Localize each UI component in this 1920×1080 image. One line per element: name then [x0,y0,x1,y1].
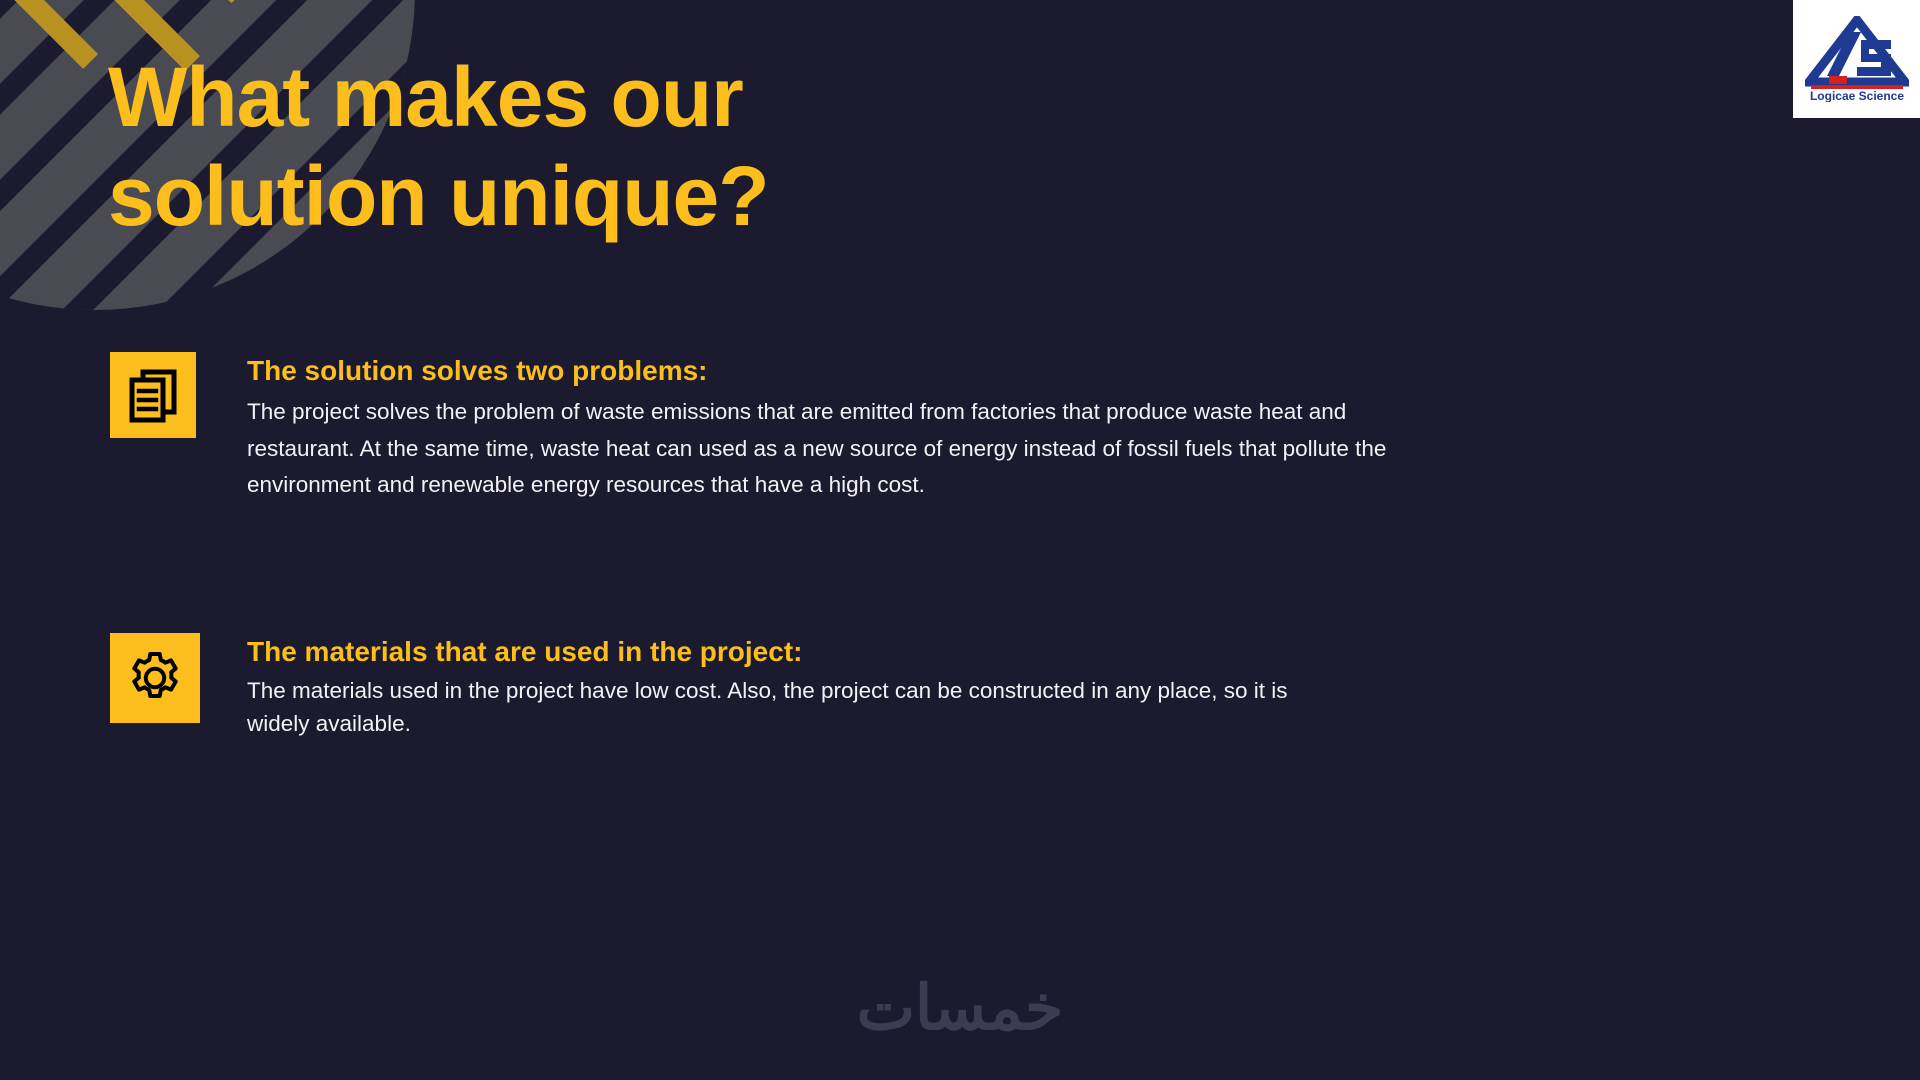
page-title-line-2: solution unique? [108,147,1008,246]
content-block-1: The solution solves two problems: The pr… [110,352,1397,503]
watermark: خمسات [0,971,1920,1044]
content-block-2-text: The materials that are used in the proje… [247,633,1347,741]
content-block-1-body: The project solves the problem of waste … [247,394,1397,503]
content-block-2: The materials that are used in the proje… [110,633,1347,741]
icon-box-gear [110,633,200,723]
logo-wordmark: Logicae Science [1809,89,1903,102]
content-block-1-heading: The solution solves two problems: [247,354,1397,388]
logo-box: Logicae Science [1793,0,1920,118]
gear-icon [128,651,182,705]
content-block-2-body: The materials used in the project have l… [247,675,1347,741]
page-title: What makes our solution unique? [108,48,1008,246]
documents-icon [127,367,179,423]
content-block-1-text: The solution solves two problems: The pr… [247,352,1397,503]
logicae-science-logo: Logicae Science [1805,16,1909,102]
content-block-2-heading: The materials that are used in the proje… [247,635,1347,669]
icon-box-documents [110,352,196,438]
page-title-line-1: What makes our [108,48,1008,147]
slide: Logicae Science What makes our solution … [0,0,1920,1080]
